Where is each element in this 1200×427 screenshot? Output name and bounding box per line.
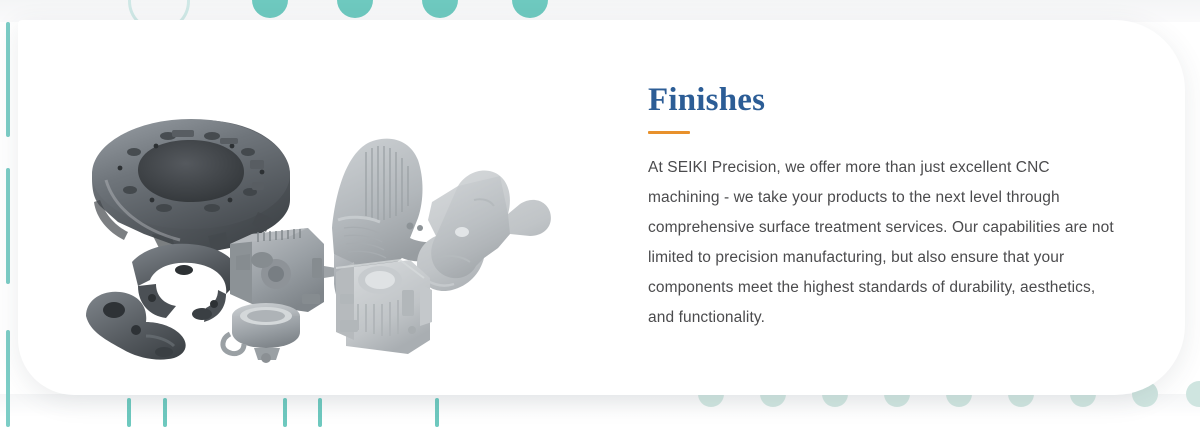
cnc-machined-parts-photo (80, 108, 580, 370)
decor-dash-icon (6, 22, 10, 137)
background-band-bottom (0, 394, 1200, 427)
body-paragraph: At SEIKI Precision, we offer more than j… (648, 153, 1115, 333)
page-root: Finishes At SEIKI Precision, we offer mo… (0, 0, 1200, 427)
title-underline (648, 131, 690, 134)
page-title: Finishes (648, 82, 1115, 118)
background-band-top (0, 0, 1200, 22)
copy-column: Finishes At SEIKI Precision, we offer mo… (618, 82, 1185, 332)
media-column (18, 20, 618, 395)
decor-dash-icon (6, 168, 10, 284)
content-card: Finishes At SEIKI Precision, we offer mo… (18, 20, 1185, 395)
